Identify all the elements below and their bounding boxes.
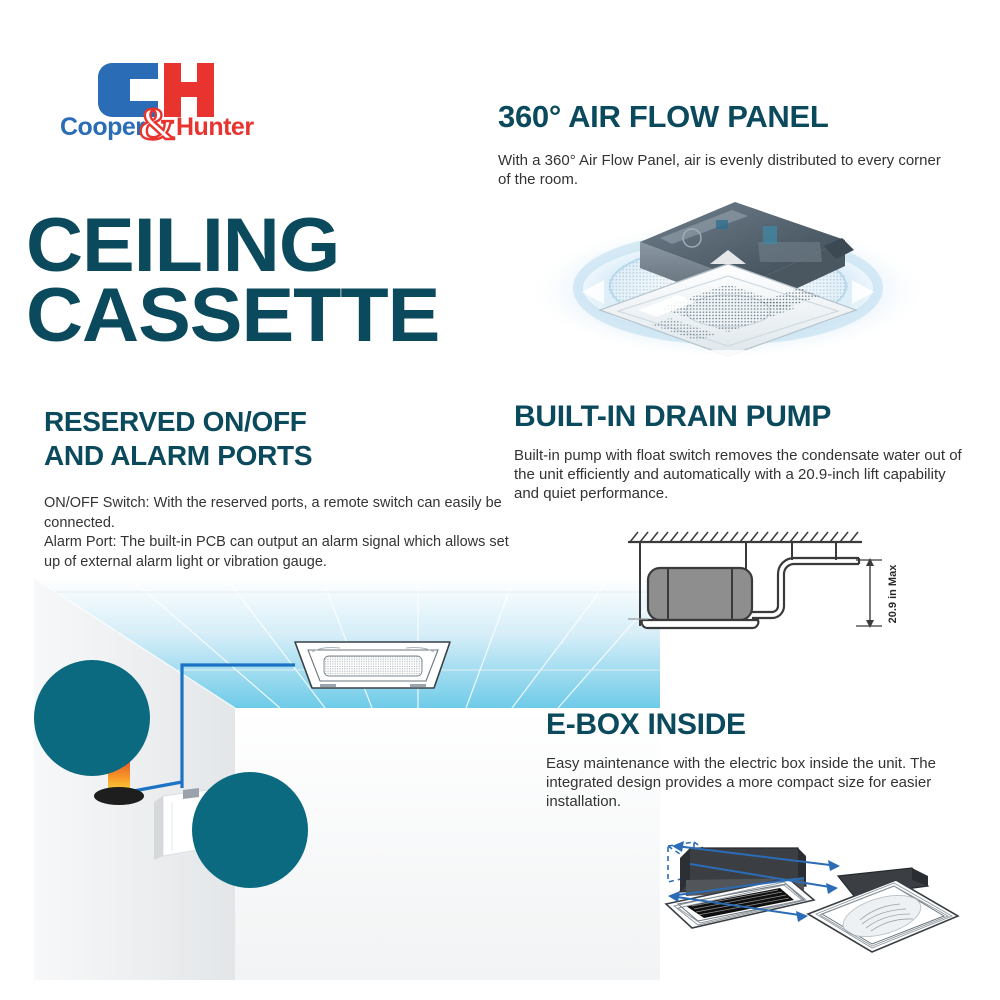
- section-drain-pump: BUILT-IN DRAIN PUMP Built-in pump with f…: [514, 400, 974, 503]
- air-flow-heading: 360° AIR FLOW PANEL: [498, 100, 958, 135]
- cooper-and-hunter-logo: Cooper & Hunter: [60, 55, 280, 145]
- logo-ampersand: &: [138, 98, 176, 145]
- callout-bubble-alarm-port[interactable]: [192, 772, 308, 888]
- lift-dimension-arrow: [856, 558, 882, 628]
- section-e-box-inside: E-BOX INSIDE Easy maintenance with the e…: [546, 708, 966, 811]
- reserved-ports-heading-line-2: AND ALARM PORTS: [44, 440, 312, 471]
- ceiling-cassette-unit: [295, 642, 450, 688]
- logo-wordmark-cooper: Cooper: [60, 113, 145, 141]
- drain-pipe-inner: [752, 558, 859, 612]
- drain-pump-heading: BUILT-IN DRAIN PUMP: [514, 400, 974, 434]
- page-title-line-2: CASSETTE: [26, 281, 484, 351]
- page-title: CEILING CASSETTE: [26, 211, 484, 351]
- reserved-ports-heading-line-1: RESERVED ON/OFF: [44, 406, 307, 437]
- e-box-size-comparison-illustration: [628, 828, 978, 978]
- unit-new-compact: [808, 868, 958, 952]
- air-flow-panel-artwork: [520, 180, 940, 365]
- logo-wordmark-hunter: Hunter: [176, 113, 254, 141]
- air-flow-panel-illustration: [520, 180, 940, 365]
- cassette-body-section: [628, 568, 758, 628]
- e-box-body: Easy maintenance with the electric box i…: [546, 754, 956, 811]
- drain-pump-diagram: 20.9 in Max: [620, 522, 910, 647]
- reserved-ports-heading: RESERVED ON/OFF AND ALARM PORTS: [44, 405, 514, 472]
- drain-pipe-outer: [752, 564, 859, 618]
- ceiling-slab: [628, 532, 862, 542]
- e-box-artwork: [628, 828, 978, 978]
- logo-artwork: Cooper & Hunter: [60, 55, 280, 145]
- section-air-flow-panel: 360° AIR FLOW PANEL With a 360° Air Flow…: [498, 100, 958, 189]
- drain-pump-body: Built-in pump with float switch removes …: [514, 446, 964, 503]
- section-reserved-ports: RESERVED ON/OFF AND ALARM PORTS ON/OFF S…: [44, 405, 514, 572]
- e-box-heading: E-BOX INSIDE: [546, 708, 966, 742]
- reserved-ports-body-line-1: ON/OFF Switch: With the reserved ports, …: [44, 495, 502, 531]
- callout-bubble-on-off-switch[interactable]: [34, 660, 150, 776]
- lift-dimension-label: 20.9 in Max: [887, 564, 899, 624]
- drain-pump-artwork: 20.9 in Max: [620, 522, 910, 647]
- infographic-page: Cooper & Hunter CEILING CASSETTE 360° AI…: [0, 0, 1000, 1000]
